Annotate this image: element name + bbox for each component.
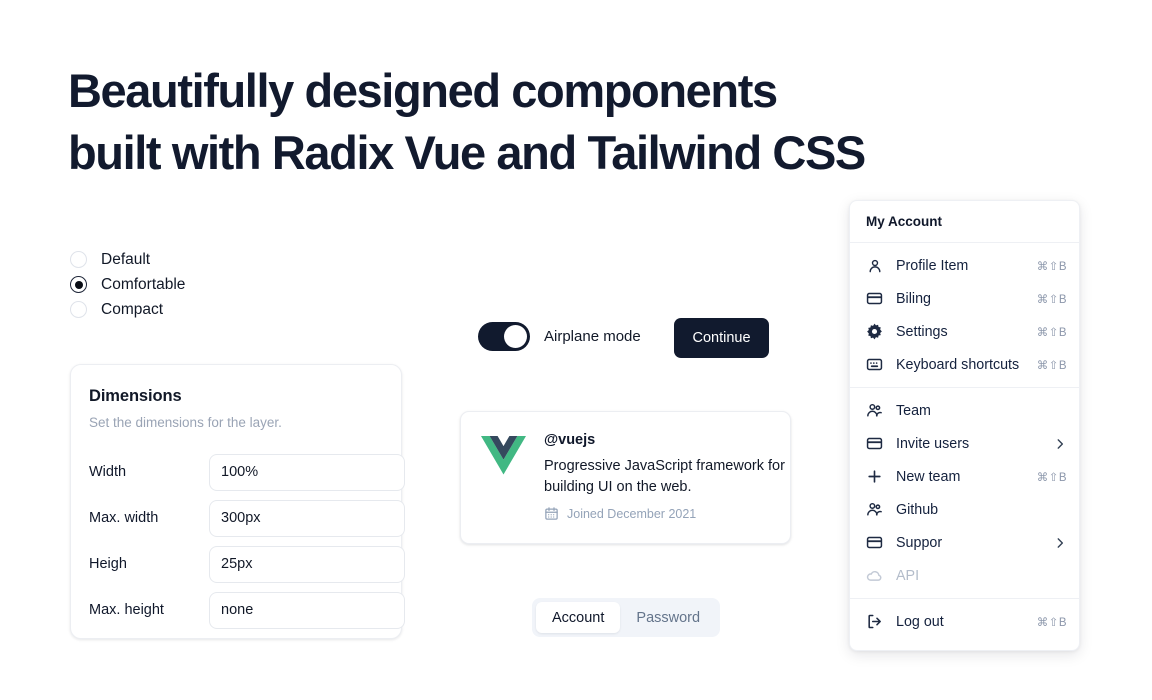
field-label: Max. height bbox=[89, 602, 209, 618]
radio-option-label: Compact bbox=[101, 302, 163, 318]
radio-group: Default Comfortable Compact bbox=[70, 247, 185, 322]
page-title-line-1: Beautifully designed components bbox=[68, 60, 1048, 122]
field-label: Heigh bbox=[89, 556, 209, 572]
width-input[interactable] bbox=[209, 454, 405, 491]
field-row-max-height: Max. height bbox=[89, 587, 383, 633]
height-input[interactable] bbox=[209, 546, 405, 583]
menu-item-label: Log out bbox=[896, 614, 944, 630]
tab-password[interactable]: Password bbox=[620, 602, 716, 633]
menu-item-label: Keyboard shortcuts bbox=[896, 357, 1019, 373]
menu-item-label: Biling bbox=[896, 291, 931, 307]
airplane-mode-switch-row: Airplane mode bbox=[478, 322, 641, 351]
tab-account[interactable]: Account bbox=[536, 602, 620, 633]
max-height-input[interactable] bbox=[209, 592, 405, 629]
tabs: Account Password bbox=[532, 598, 720, 637]
account-dropdown-menu: My Account Profile Item ⌘⇧B Biling bbox=[849, 200, 1080, 651]
page-title: Beautifully designed components built wi… bbox=[68, 60, 1048, 184]
keyboard-icon bbox=[866, 356, 883, 373]
chevron-right-icon bbox=[1053, 536, 1067, 550]
menu-item-label: Settings bbox=[896, 324, 948, 340]
credit-card-icon bbox=[866, 534, 883, 551]
credit-card-icon bbox=[866, 435, 883, 452]
users-icon bbox=[866, 402, 883, 419]
dimensions-card-title: Dimensions bbox=[89, 387, 383, 406]
menu-item-shortcut: ⌘⇧B bbox=[1037, 615, 1067, 629]
menu-item-log-out[interactable]: Log out ⌘⇧B bbox=[850, 605, 1079, 638]
menu-item-settings[interactable]: Settings ⌘⇧B bbox=[850, 315, 1079, 348]
cloud-icon bbox=[866, 567, 883, 584]
vue-logo-icon bbox=[481, 436, 526, 476]
field-row-height: Heigh bbox=[89, 541, 383, 587]
menu-item-billing[interactable]: Biling ⌘⇧B bbox=[850, 282, 1079, 315]
radio-option-compact[interactable]: Compact bbox=[70, 297, 185, 322]
radio-option-label: Default bbox=[101, 252, 150, 268]
menu-group-team: Team Invite users New team ⌘ bbox=[850, 388, 1079, 598]
field-row-max-width: Max. width bbox=[89, 495, 383, 541]
credit-card-icon bbox=[866, 290, 883, 307]
menu-item-keyboard-shortcuts[interactable]: Keyboard shortcuts ⌘⇧B bbox=[850, 348, 1079, 381]
menu-item-shortcut: ⌘⇧B bbox=[1037, 292, 1067, 306]
field-label: Width bbox=[89, 464, 209, 480]
hover-card-joined-text: Joined December 2021 bbox=[567, 507, 696, 521]
menu-item-label: Team bbox=[896, 403, 931, 419]
field-label: Max. width bbox=[89, 510, 209, 526]
radio-option-comfortable[interactable]: Comfortable bbox=[70, 272, 185, 297]
hover-card-body: @vuejs Progressive JavaScript framework … bbox=[544, 432, 788, 543]
menu-item-label: Invite users bbox=[896, 436, 969, 452]
chevron-right-icon bbox=[1053, 437, 1067, 451]
plus-icon bbox=[866, 468, 883, 485]
airplane-mode-label: Airplane mode bbox=[544, 328, 641, 345]
menu-group-account: Profile Item ⌘⇧B Biling ⌘⇧B bbox=[850, 243, 1079, 387]
app-root: Beautifully designed components built wi… bbox=[0, 0, 1152, 700]
toggle-switch-icon[interactable] bbox=[478, 322, 530, 351]
continue-button[interactable]: Continue bbox=[674, 318, 769, 358]
menu-item-api: API bbox=[850, 559, 1079, 592]
menu-group-session: Log out ⌘⇧B bbox=[850, 599, 1079, 644]
radio-indicator-icon[interactable] bbox=[70, 301, 87, 318]
menu-item-team[interactable]: Team bbox=[850, 394, 1079, 427]
hover-card-handle: @vuejs bbox=[544, 432, 788, 448]
menu-item-label: Profile Item bbox=[896, 258, 968, 274]
menu-item-invite-users[interactable]: Invite users bbox=[850, 427, 1079, 460]
toggle-knob bbox=[504, 325, 527, 348]
hover-card-description: Progressive JavaScript framework for bui… bbox=[544, 456, 788, 498]
max-width-input[interactable] bbox=[209, 500, 405, 537]
menu-item-github[interactable]: Github bbox=[850, 493, 1079, 526]
hover-card: @vuejs Progressive JavaScript framework … bbox=[460, 411, 791, 544]
field-row-width: Width bbox=[89, 449, 383, 495]
user-icon bbox=[866, 257, 883, 274]
users-icon bbox=[866, 501, 883, 518]
page-title-line-2: built with Radix Vue and Tailwind CSS bbox=[68, 122, 1048, 184]
dimensions-card-subtitle: Set the dimensions for the layer. bbox=[89, 415, 383, 430]
radio-option-default[interactable]: Default bbox=[70, 247, 185, 272]
menu-item-shortcut: ⌘⇧B bbox=[1037, 358, 1067, 372]
calendar-icon bbox=[544, 506, 559, 521]
hover-card-joined: Joined December 2021 bbox=[544, 506, 788, 521]
menu-item-label: New team bbox=[896, 469, 960, 485]
gear-icon bbox=[866, 323, 883, 340]
menu-item-label: API bbox=[896, 568, 919, 584]
menu-item-shortcut: ⌘⇧B bbox=[1037, 470, 1067, 484]
dimensions-fields: Width Max. width Heigh Max. height bbox=[89, 449, 383, 633]
menu-item-support[interactable]: Suppor bbox=[850, 526, 1079, 559]
menu-item-shortcut: ⌘⇧B bbox=[1037, 259, 1067, 273]
radio-indicator-icon[interactable] bbox=[70, 276, 87, 293]
dimensions-card: Dimensions Set the dimensions for the la… bbox=[70, 364, 402, 639]
menu-item-new-team[interactable]: New team ⌘⇧B bbox=[850, 460, 1079, 493]
menu-item-label: Suppor bbox=[896, 535, 942, 551]
logout-icon bbox=[866, 613, 883, 630]
menu-item-label: Github bbox=[896, 502, 938, 518]
menu-item-profile[interactable]: Profile Item ⌘⇧B bbox=[850, 249, 1079, 282]
radio-option-label: Comfortable bbox=[101, 277, 185, 293]
radio-indicator-icon[interactable] bbox=[70, 251, 87, 268]
menu-item-shortcut: ⌘⇧B bbox=[1037, 325, 1067, 339]
menu-label: My Account bbox=[850, 201, 1079, 242]
